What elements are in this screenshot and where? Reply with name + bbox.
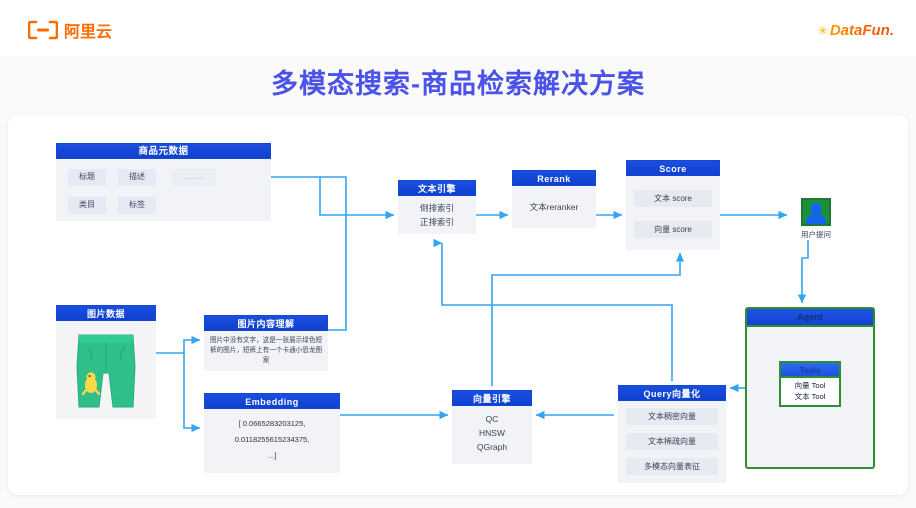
query-vec-item-dense: 文本稠密向量 (626, 408, 718, 425)
alibaba-cloud-logo: 阿里云 (28, 18, 112, 42)
sparkle-icon: ✳ (818, 25, 828, 37)
datafun-logo: ✳ DataFun. (818, 22, 894, 39)
node-image-understanding-title: 图片内容理解 (204, 315, 328, 331)
alibaba-cloud-mark-icon (28, 20, 58, 40)
node-tools-body: 向量 Tool 文本 Tool (781, 378, 839, 405)
metadata-tag-title[interactable]: 标题 (68, 169, 106, 186)
metadata-tag-label[interactable]: 标签 (118, 197, 156, 214)
score-item-vector-score: 向量 score (634, 221, 712, 238)
node-query-vectorization-title: Query向量化 (618, 385, 726, 401)
node-tools: Tools 向量 Tool 文本 Tool (779, 361, 841, 407)
slide-header: 阿里云 ✳ DataFun. (0, 0, 916, 56)
node-text-engine: 文本引擎 倒排索引 正排索引 (398, 180, 476, 234)
node-embedding-body: [ 0.0665283203125, 0.0118255615234375, .… (204, 409, 340, 473)
text-engine-item-forward-index: 正排索引 (400, 215, 474, 229)
node-embedding: Embedding [ 0.0665283203125, 0.011825561… (204, 393, 340, 473)
node-text-engine-title: 文本引擎 (398, 180, 476, 196)
node-vector-engine: 向量引擎 QC HNSW QGraph (452, 390, 532, 464)
user-query-caption: 用户提问 (799, 229, 833, 240)
rerank-item-text-reranker: 文本reranker (514, 200, 594, 214)
page-title: 多模态搜索-商品检索解决方案 (0, 62, 916, 101)
node-product-metadata-body: 标题 描述 ...... 类目 标签 (56, 159, 271, 221)
avatar-body (806, 213, 826, 224)
query-vec-item-sparse: 文本稀疏向量 (626, 433, 718, 450)
node-product-metadata: 商品元数据 标题 描述 ...... 类目 标签 (56, 143, 271, 221)
node-agent-title: Agent (747, 309, 873, 327)
node-score: Score 文本 score 向量 score (626, 160, 720, 250)
node-agent: Agent Tools 向量 Tool 文本 Tool (745, 307, 875, 469)
user-query-node: 用户提问 (799, 198, 833, 240)
diagram-card: 商品元数据 标题 描述 ...... 类目 标签 图片数据 (8, 115, 908, 495)
embedding-line-3: ...] (208, 448, 336, 464)
node-vector-engine-title: 向量引擎 (452, 390, 532, 406)
metadata-tag-category[interactable]: 类目 (68, 197, 106, 214)
node-image-data: 图片数据 (56, 305, 156, 419)
embedding-line-2: 0.0118255615234375, (208, 432, 336, 448)
node-query-vectorization-body: 文本稠密向量 文本稀疏向量 多模态向量表征 (618, 401, 726, 483)
node-vector-engine-body: QC HNSW QGraph (452, 406, 532, 464)
query-vec-item-multimodal: 多模态向量表征 (626, 458, 718, 475)
node-image-understanding-body: 图片中没有文字，这是一张展示绿色短裤的图片，短裤上有一个卡通小恐龙图案 (204, 331, 328, 371)
datafun-wordmark: DataFun. (830, 22, 894, 39)
vector-engine-item-qgraph: QGraph (454, 440, 530, 454)
node-rerank-title: Rerank (512, 170, 596, 186)
vector-engine-item-hnsw: HNSW (454, 426, 530, 440)
vector-engine-item-qc: QC (454, 412, 530, 426)
node-product-metadata-title: 商品元数据 (56, 143, 271, 159)
score-item-text-score: 文本 score (634, 190, 712, 207)
node-score-title: Score (626, 160, 720, 176)
green-shorts-image (63, 327, 149, 415)
tools-item-vector-tool: 向量 Tool (781, 380, 839, 391)
node-image-data-title: 图片数据 (56, 305, 156, 321)
user-avatar-icon (801, 198, 831, 226)
image-understanding-text: 图片中没有文字，这是一张展示绿色短裤的图片，短裤上有一个卡通小恐龙图案 (208, 336, 324, 366)
slide-canvas: 阿里云 ✳ DataFun. 多模态搜索-商品检索解决方案 (0, 0, 916, 508)
metadata-tag-desc[interactable]: 描述 (118, 169, 156, 186)
node-rerank: Rerank 文本reranker (512, 170, 596, 228)
tools-item-text-tool: 文本 Tool (781, 391, 839, 402)
text-engine-item-inverted-index: 倒排索引 (400, 201, 474, 215)
alibaba-cloud-wordmark: 阿里云 (64, 18, 112, 42)
node-score-body: 文本 score 向量 score (626, 176, 720, 250)
node-image-understanding: 图片内容理解 图片中没有文字，这是一张展示绿色短裤的图片，短裤上有一个卡通小恐龙… (204, 315, 328, 371)
node-rerank-body: 文本reranker (512, 186, 596, 228)
metadata-tag-more[interactable]: ...... (172, 169, 216, 186)
node-embedding-title: Embedding (204, 393, 340, 409)
node-image-data-body (56, 321, 156, 419)
node-tools-title: Tools (781, 363, 839, 378)
embedding-line-1: [ 0.0665283203125, (208, 416, 336, 432)
node-text-engine-body: 倒排索引 正排索引 (398, 196, 476, 234)
node-query-vectorization: Query向量化 文本稠密向量 文本稀疏向量 多模态向量表征 (618, 385, 726, 483)
